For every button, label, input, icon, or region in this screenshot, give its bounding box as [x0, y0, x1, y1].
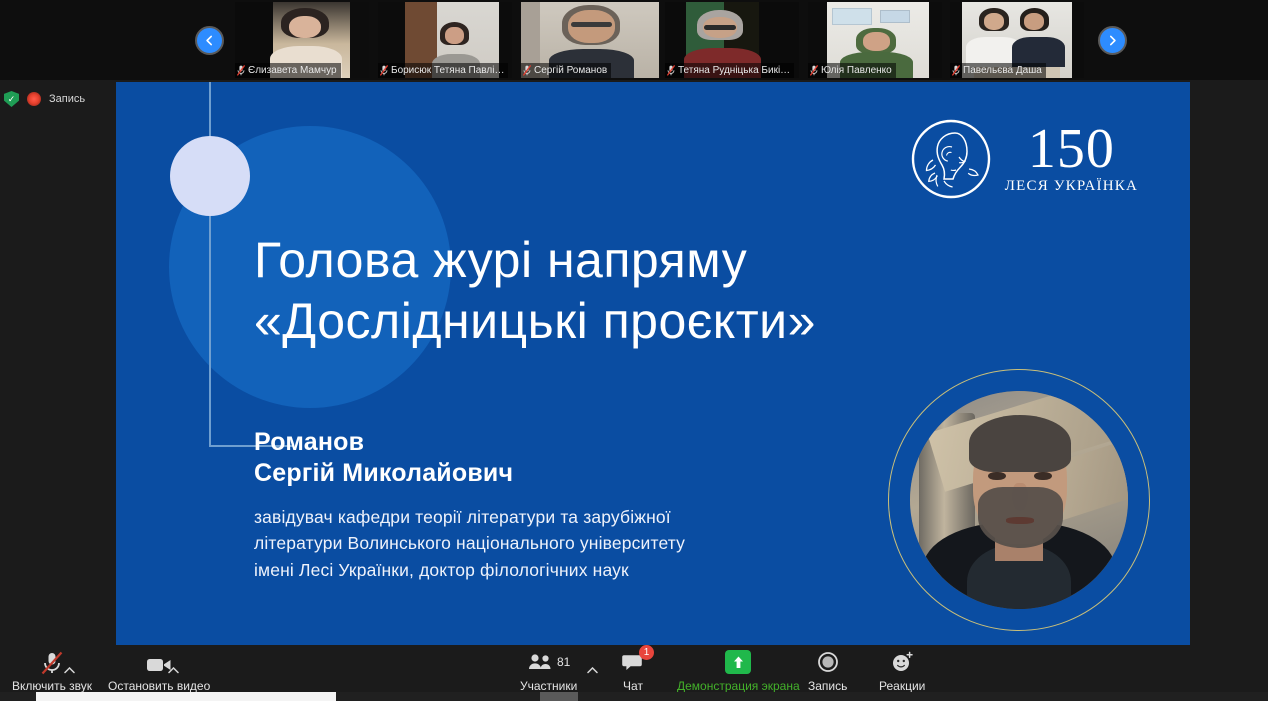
- participant-tile[interactable]: Єлизавета Мамчур: [235, 2, 369, 78]
- participant-tile[interactable]: Сергій Романов: [521, 2, 659, 78]
- reactions-icon: [891, 649, 914, 675]
- participant-name-badge: Павельєва Даша: [950, 63, 1046, 78]
- microphone-muted-icon: [523, 65, 531, 76]
- chevron-right-icon: [1106, 34, 1119, 47]
- filmstrip-prev-button[interactable]: [195, 26, 224, 55]
- logo-number: 150: [1028, 123, 1115, 176]
- speaker-description-line-2: літератури Волинського національного уні…: [254, 530, 854, 556]
- chevron-left-icon: [203, 34, 216, 47]
- participant-tile[interactable]: Павельєва Даша: [950, 2, 1084, 78]
- microphone-muted-icon: [810, 65, 818, 76]
- participant-tile[interactable]: Тетяна Рудніцька Бикі…: [665, 2, 799, 78]
- participant-filmstrip: Єлизавета Мамчур Борисюк Тетяна Павлі…: [0, 0, 1268, 80]
- video-options-caret-icon[interactable]: [166, 663, 180, 677]
- recording-indicator[interactable]: ✓ Запись: [0, 88, 85, 110]
- participant-name: Борисюк Тетяна Павлі…: [391, 65, 504, 76]
- participant-name-badge: Тетяна Рудніцька Бикі…: [665, 63, 794, 78]
- recording-label: Запись: [49, 93, 85, 105]
- speaker-surname: Романов: [254, 427, 854, 458]
- shield-check-icon: ✓: [4, 91, 19, 107]
- speaker-description: завідувач кафедри теорії літератури та з…: [254, 504, 854, 583]
- participant-tile[interactable]: Борисюк Тетяна Павлі…: [378, 2, 512, 78]
- toolbar-mute-button[interactable]: Включить звук: [12, 649, 92, 693]
- participant-tile[interactable]: Юлія Павленко: [808, 2, 942, 78]
- participant-name: Тетяна Рудніцька Бикі…: [678, 65, 790, 76]
- toolbar-video-label: Остановить видео: [108, 679, 210, 693]
- toolbar-participants-label: Участники: [520, 679, 577, 693]
- decorative-accent-dot: [170, 136, 250, 216]
- toolbar-participants-button[interactable]: 81 Участники: [520, 649, 577, 693]
- filmstrip-next-button[interactable]: [1098, 26, 1127, 55]
- speaker-description-line-3: імені Лесі Українки, доктор філологічних…: [254, 557, 854, 583]
- participant-name-badge: Сергій Романов: [521, 63, 611, 78]
- toolbar-chat-button[interactable]: 1 Чат: [622, 649, 644, 693]
- microphone-muted-icon: [380, 65, 388, 76]
- share-screen-icon: [725, 649, 751, 675]
- participant-name: Сергій Романов: [534, 65, 607, 76]
- chat-unread-badge: 1: [639, 645, 654, 660]
- toolbar-record-button[interactable]: Запись: [808, 649, 847, 693]
- participant-name: Юлія Павленко: [821, 65, 892, 76]
- slide-title-line-2: «Дослідницькі проєкти»: [254, 291, 1034, 352]
- toolbar-mute-label: Включить звук: [12, 679, 92, 693]
- lesya-ukrainka-150-logo: 150 ЛЕСЯ УКРАЇНКА: [911, 119, 1138, 199]
- taskbar-window-item[interactable]: [540, 692, 578, 701]
- os-taskbar: [0, 692, 1268, 701]
- participants-count: 81: [557, 655, 570, 669]
- toolbar-video-button[interactable]: Остановить видео: [108, 649, 210, 693]
- speaker-info-block: Романов Сергій Миколайович завідувач каф…: [254, 427, 854, 583]
- microphone-muted-icon: [237, 65, 245, 76]
- toolbar-chat-label: Чат: [623, 679, 643, 693]
- portrait-photo: [910, 391, 1128, 609]
- taskbar-window-preview[interactable]: [36, 692, 336, 701]
- toolbar-reactions-label: Реакции: [879, 679, 925, 693]
- participants-icon: 81: [527, 649, 570, 675]
- shared-screen-slide[interactable]: 150 ЛЕСЯ УКРАЇНКА Голова журі напряму «Д…: [116, 82, 1190, 645]
- toolbar-reactions-button[interactable]: Реакции: [879, 649, 925, 693]
- participant-name: Єлизавета Мамчур: [248, 65, 337, 76]
- audio-options-caret-icon[interactable]: [62, 663, 76, 677]
- toolbar-share-screen-label: Демонстрация экрана: [677, 679, 800, 693]
- participant-name-badge: Борисюк Тетяна Павлі…: [378, 63, 508, 78]
- toolbar-share-screen-button[interactable]: Демонстрация экрана: [677, 649, 800, 693]
- slide-title-line-1: Голова журі напряму: [254, 232, 747, 288]
- participant-name-badge: Юлія Павленко: [808, 63, 896, 78]
- zoom-meeting-window: Єлизавета Мамчур Борисюк Тетяна Павлі…: [0, 0, 1268, 701]
- speaker-portrait: [888, 369, 1150, 631]
- microphone-muted-icon: [952, 65, 960, 76]
- speaker-given-name: Сергій Миколайович: [254, 458, 854, 489]
- participant-name-badge: Єлизавета Мамчур: [235, 63, 341, 78]
- toolbar-record-label: Запись: [808, 679, 847, 693]
- speaker-description-line-1: завідувач кафедри теорії літератури та з…: [254, 504, 854, 530]
- record-circle-icon: [817, 649, 839, 675]
- record-dot-icon: [27, 92, 41, 106]
- microphone-muted-icon: [667, 65, 675, 76]
- participants-options-caret-icon[interactable]: [585, 663, 599, 677]
- chat-bubble-icon: 1: [622, 649, 644, 675]
- slide-title: Голова журі напряму «Дослідницькі проєкт…: [254, 230, 1034, 352]
- microphone-muted-icon: [41, 649, 63, 675]
- lesya-ukrainka-medallion-icon: [911, 119, 991, 199]
- participant-name: Павельєва Даша: [963, 65, 1042, 76]
- logo-subtitle: ЛЕСЯ УКРАЇНКА: [1005, 178, 1138, 195]
